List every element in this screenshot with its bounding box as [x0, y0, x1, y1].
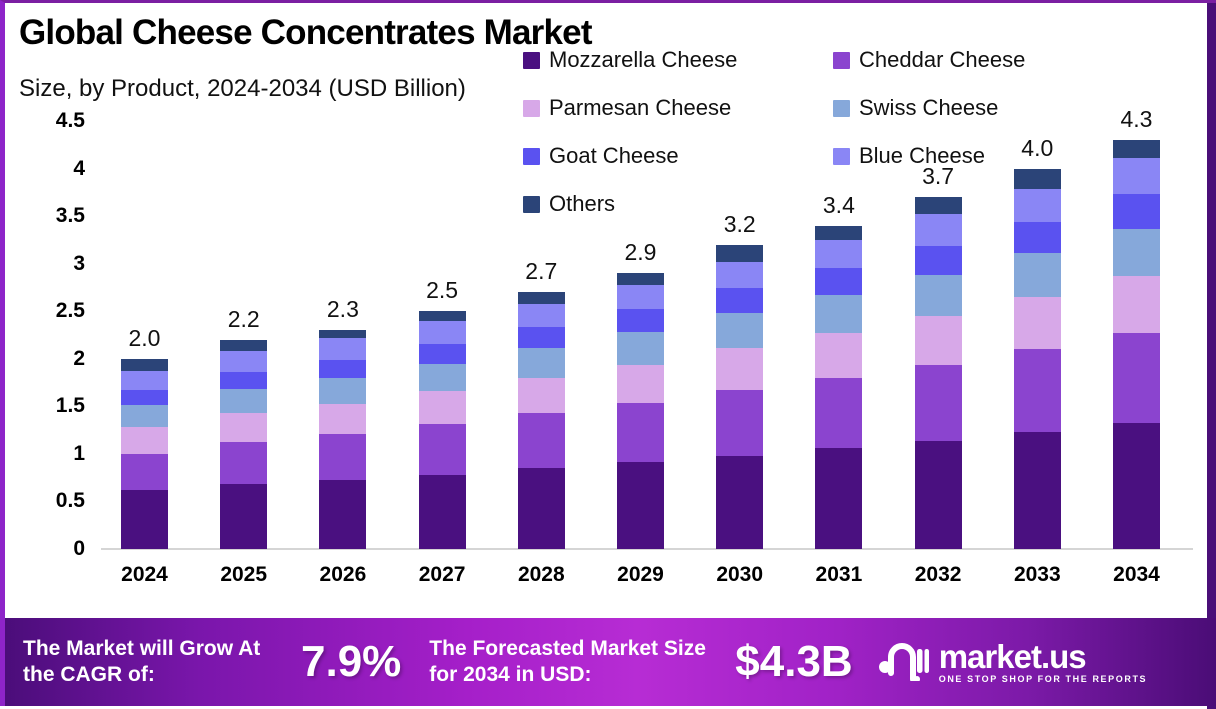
bar-segment-blue-cheese[interactable]	[419, 321, 466, 344]
bar-segment-swiss-cheese[interactable]	[121, 405, 168, 427]
bar-2034[interactable]	[1113, 140, 1160, 549]
bar-segment-blue-cheese[interactable]	[617, 285, 664, 310]
bar-segment-mozzarella-cheese[interactable]	[518, 468, 565, 549]
bar-segment-swiss-cheese[interactable]	[915, 275, 962, 316]
market-us-logo-icon	[877, 639, 929, 686]
bar-segment-parmesan-cheese[interactable]	[220, 413, 267, 442]
bar-value-label: 3.2	[705, 211, 775, 238]
bar-segment-mozzarella-cheese[interactable]	[220, 484, 267, 549]
bottom-banner: The Market will Grow At the CAGR of: 7.9…	[5, 618, 1216, 706]
bar-segment-others[interactable]	[121, 359, 168, 371]
bar-segment-blue-cheese[interactable]	[716, 262, 763, 289]
legend-swatch-icon	[523, 52, 540, 69]
bar-segment-blue-cheese[interactable]	[815, 240, 862, 269]
bar-segment-goat-cheese[interactable]	[617, 309, 664, 332]
bar-segment-swiss-cheese[interactable]	[1113, 229, 1160, 277]
bar-segment-goat-cheese[interactable]	[419, 344, 466, 364]
bar-segment-others[interactable]	[220, 340, 267, 351]
bar-segment-parmesan-cheese[interactable]	[1014, 297, 1061, 349]
x-axis-tick-2033: 2033	[1002, 563, 1072, 587]
bar-value-label: 2.9	[606, 239, 676, 266]
x-axis-tick-2030: 2030	[705, 563, 775, 587]
forecast-label: The Forecasted Market Size for 2034 in U…	[429, 636, 729, 687]
logo-tagline: ONE STOP SHOP FOR THE REPORTS	[939, 675, 1147, 684]
x-axis-tick-2032: 2032	[903, 563, 973, 587]
bar-segment-cheddar-cheese[interactable]	[518, 413, 565, 468]
bar-segment-cheddar-cheese[interactable]	[716, 390, 763, 456]
bar-segment-mozzarella-cheese[interactable]	[915, 441, 962, 549]
legend-row: Mozzarella CheeseCheddar Cheese	[523, 47, 1083, 73]
bar-segment-goat-cheese[interactable]	[518, 327, 565, 348]
bar-segment-blue-cheese[interactable]	[319, 338, 366, 360]
right-border-accent	[1207, 3, 1216, 709]
bar-value-label: 2.7	[506, 258, 576, 285]
legend-label: Parmesan Cheese	[549, 95, 731, 121]
bar-2032[interactable]	[915, 197, 962, 549]
y-axis-tick: 3	[13, 252, 85, 276]
bar-value-label: 3.4	[804, 192, 874, 219]
y-axis-tick: 2.5	[13, 299, 85, 323]
infographic-root: Global Cheese Concentrates Market Size, …	[0, 0, 1216, 706]
bar-segment-others[interactable]	[419, 311, 466, 321]
legend-label: Mozzarella Cheese	[549, 47, 737, 73]
bar-segment-parmesan-cheese[interactable]	[1113, 276, 1160, 333]
bar-segment-mozzarella-cheese[interactable]	[1014, 432, 1061, 549]
y-axis-tick: 2	[13, 347, 85, 371]
bar-segment-cheddar-cheese[interactable]	[1113, 333, 1160, 422]
page-title: Global Cheese Concentrates Market	[19, 13, 592, 53]
bar-segment-goat-cheese[interactable]	[815, 268, 862, 295]
bar-value-label: 2.0	[110, 325, 180, 352]
bar-segment-swiss-cheese[interactable]	[319, 378, 366, 404]
bar-segment-blue-cheese[interactable]	[1113, 158, 1160, 194]
bar-segment-others[interactable]	[716, 245, 763, 262]
bar-segment-cheddar-cheese[interactable]	[419, 424, 466, 474]
bar-segment-parmesan-cheese[interactable]	[815, 333, 862, 378]
bar-segment-goat-cheese[interactable]	[121, 390, 168, 405]
bar-segment-swiss-cheese[interactable]	[220, 389, 267, 413]
y-axis-tick: 1.5	[13, 394, 85, 418]
bar-segment-goat-cheese[interactable]	[915, 246, 962, 275]
bar-segment-goat-cheese[interactable]	[716, 288, 763, 313]
x-axis-tick-2028: 2028	[506, 563, 576, 587]
bar-segment-parmesan-cheese[interactable]	[617, 365, 664, 403]
y-axis: 00.511.522.533.544.5	[5, 121, 85, 549]
bar-segment-others[interactable]	[1014, 169, 1061, 189]
bar-segment-goat-cheese[interactable]	[1014, 222, 1061, 253]
bar-segment-blue-cheese[interactable]	[915, 214, 962, 245]
bar-2029[interactable]	[617, 273, 664, 549]
y-axis-tick: 4	[13, 157, 85, 181]
bar-2024[interactable]	[121, 359, 168, 549]
bar-segment-cheddar-cheese[interactable]	[319, 434, 366, 480]
bar-value-label: 4.3	[1102, 106, 1172, 133]
bar-segment-parmesan-cheese[interactable]	[319, 404, 366, 434]
bar-segment-parmesan-cheese[interactable]	[716, 348, 763, 390]
bar-segment-others[interactable]	[915, 197, 962, 214]
bar-segment-cheddar-cheese[interactable]	[617, 403, 664, 463]
bar-segment-mozzarella-cheese[interactable]	[815, 448, 862, 549]
bar-segment-parmesan-cheese[interactable]	[518, 378, 565, 413]
legend-label: Swiss Cheese	[859, 95, 998, 121]
legend-row: Parmesan CheeseSwiss Cheese	[523, 95, 1083, 121]
bar-2025[interactable]	[220, 340, 267, 549]
x-axis-tick-2029: 2029	[606, 563, 676, 587]
legend-item-cheddar-cheese[interactable]: Cheddar Cheese	[833, 47, 1025, 73]
bar-2027[interactable]	[419, 311, 466, 549]
legend-label: Cheddar Cheese	[859, 47, 1025, 73]
bar-2031[interactable]	[815, 226, 862, 549]
bar-2033[interactable]	[1014, 169, 1061, 549]
x-axis-tick-2031: 2031	[804, 563, 874, 587]
legend-swatch-icon	[833, 100, 850, 117]
logo-name: market.us	[939, 640, 1147, 673]
market-us-logo[interactable]: market.us ONE STOP SHOP FOR THE REPORTS	[877, 639, 1147, 686]
legend-item-swiss-cheese[interactable]: Swiss Cheese	[833, 95, 998, 121]
bar-segment-blue-cheese[interactable]	[518, 304, 565, 328]
bar-segment-mozzarella-cheese[interactable]	[716, 456, 763, 549]
bar-segment-blue-cheese[interactable]	[1014, 189, 1061, 222]
y-axis-tick: 3.5	[13, 204, 85, 228]
y-axis-tick: 1	[13, 442, 85, 466]
bar-segment-parmesan-cheese[interactable]	[419, 391, 466, 424]
bar-segment-blue-cheese[interactable]	[220, 351, 267, 372]
bar-segment-cheddar-cheese[interactable]	[915, 365, 962, 441]
bar-2026[interactable]	[319, 330, 366, 549]
bar-segment-swiss-cheese[interactable]	[518, 348, 565, 377]
page-subtitle: Size, by Product, 2024-2034 (USD Billion…	[19, 75, 466, 103]
bar-value-label: 4.0	[1002, 135, 1072, 162]
bar-segment-swiss-cheese[interactable]	[815, 295, 862, 333]
bar-2030[interactable]	[716, 245, 763, 549]
forecast-value: $4.3B	[735, 637, 852, 687]
x-axis-tick-2027: 2027	[407, 563, 477, 587]
bar-segment-cheddar-cheese[interactable]	[1014, 349, 1061, 432]
x-axis-tick-2034: 2034	[1102, 563, 1172, 587]
bar-value-label: 2.5	[407, 277, 477, 304]
bar-segment-swiss-cheese[interactable]	[617, 332, 664, 364]
bar-segment-goat-cheese[interactable]	[319, 360, 366, 378]
x-axis-tick-2024: 2024	[110, 563, 180, 587]
bar-segment-others[interactable]	[1113, 140, 1160, 158]
cagr-label: The Market will Grow At the CAGR of:	[23, 636, 291, 687]
bar-segment-goat-cheese[interactable]	[220, 372, 267, 389]
bar-value-label: 3.7	[903, 163, 973, 190]
x-axis-tick-2026: 2026	[308, 563, 378, 587]
bar-segment-mozzarella-cheese[interactable]	[121, 490, 168, 549]
bar-2028[interactable]	[518, 292, 565, 549]
bar-segment-blue-cheese[interactable]	[121, 371, 168, 390]
bar-segment-others[interactable]	[617, 273, 664, 284]
legend-swatch-icon	[523, 100, 540, 117]
legend-item-mozzarella-cheese[interactable]: Mozzarella Cheese	[523, 47, 833, 73]
bar-segment-parmesan-cheese[interactable]	[915, 316, 962, 365]
legend-swatch-icon	[833, 52, 850, 69]
bar-segment-mozzarella-cheese[interactable]	[319, 480, 366, 549]
y-axis-tick: 0.5	[13, 489, 85, 513]
legend-item-parmesan-cheese[interactable]: Parmesan Cheese	[523, 95, 833, 121]
bar-segment-swiss-cheese[interactable]	[716, 313, 763, 348]
bar-segment-mozzarella-cheese[interactable]	[617, 462, 664, 549]
bar-segment-mozzarella-cheese[interactable]	[419, 475, 466, 549]
bar-segment-others[interactable]	[319, 330, 366, 338]
bar-segment-cheddar-cheese[interactable]	[815, 378, 862, 448]
bar-segment-others[interactable]	[518, 292, 565, 303]
cagr-value: 7.9%	[301, 637, 401, 687]
bar-value-label: 2.2	[209, 306, 279, 333]
plot-area	[101, 121, 1193, 549]
bar-segment-others[interactable]	[815, 226, 862, 240]
bar-segment-cheddar-cheese[interactable]	[121, 454, 168, 490]
bar-segment-swiss-cheese[interactable]	[1014, 253, 1061, 297]
bar-segment-cheddar-cheese[interactable]	[220, 442, 267, 485]
y-axis-tick: 0	[13, 537, 85, 561]
market-us-logo-text: market.us ONE STOP SHOP FOR THE REPORTS	[939, 640, 1147, 684]
bar-segment-parmesan-cheese[interactable]	[121, 427, 168, 454]
bar-value-label: 2.3	[308, 296, 378, 323]
bar-segment-goat-cheese[interactable]	[1113, 194, 1160, 228]
bar-segment-mozzarella-cheese[interactable]	[1113, 423, 1160, 549]
y-axis-tick: 4.5	[13, 109, 85, 133]
x-axis-tick-2025: 2025	[209, 563, 279, 587]
bar-segment-swiss-cheese[interactable]	[419, 364, 466, 392]
